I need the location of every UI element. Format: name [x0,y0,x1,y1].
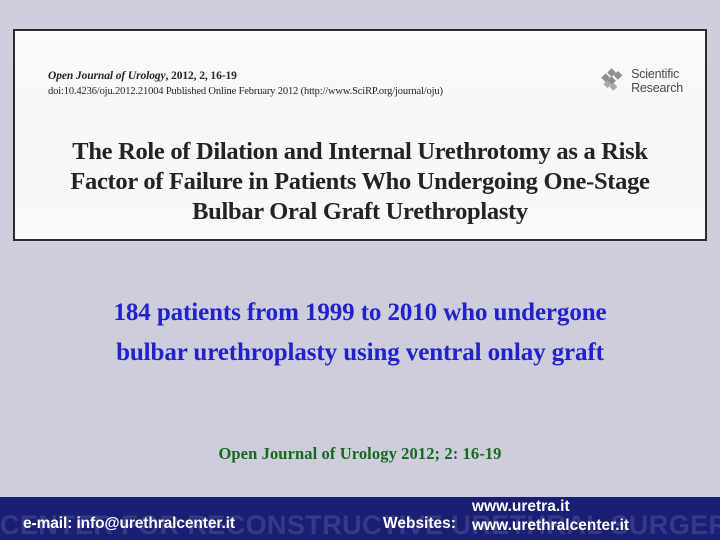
journal-citation-line: Open Journal of Urology, 2012, 2, 16-19 [48,69,538,84]
publisher-logo-text: Scientific Research [631,67,683,95]
footer-bar: CENTER FOR RECONSTRUCTIVE URETHRAL SURGE… [0,497,720,540]
paper-title-line-2: Factor of Failure in Patients Who Underg… [41,167,679,197]
journal-doi-line: doi:10.4236/oju.2012.21004 Published Onl… [48,85,538,98]
journal-volume-pages: , 2012, 2, 16-19 [166,70,237,82]
footer-website-1: www.uretra.it [472,498,629,516]
paper-title-line-1: The Role of Dilation and Internal Urethr… [41,137,679,167]
footer-email-text: e-mail: info@urethralcenter.it [23,515,235,533]
footer-website-list: www.uretra.it www.urethralcenter.it [472,498,629,535]
paper-title: The Role of Dilation and Internal Urethr… [41,137,679,227]
footer-website-2: www.urethralcenter.it [472,517,629,535]
journal-metadata: Open Journal of Urology, 2012, 2, 16-19 … [48,69,538,98]
study-statement-line-1: 184 patients from 1999 to 2010 who under… [40,293,680,333]
study-statement-line-2: bulbar urethroplasty using ventral onlay… [40,333,680,373]
paper-scan-image: Open Journal of Urology, 2012, 2, 16-19 … [13,29,707,241]
study-statement: 184 patients from 1999 to 2010 who under… [40,293,680,372]
journal-name: Open Journal of Urology [48,70,166,82]
source-citation: Open Journal of Urology 2012; 2: 16-19 [40,444,680,464]
slide-canvas: Open Journal of Urology, 2012, 2, 16-19 … [0,0,720,540]
publisher-name-line2: Research [631,81,683,95]
publisher-name-line1: Scientific [631,67,683,81]
publisher-logo: Scientific Research [600,67,683,95]
footer-websites-label: Websites: [383,515,456,533]
paper-title-line-3: Bulbar Oral Graft Urethroplasty [41,197,679,227]
scientific-research-diamond-logo-icon [600,68,626,94]
